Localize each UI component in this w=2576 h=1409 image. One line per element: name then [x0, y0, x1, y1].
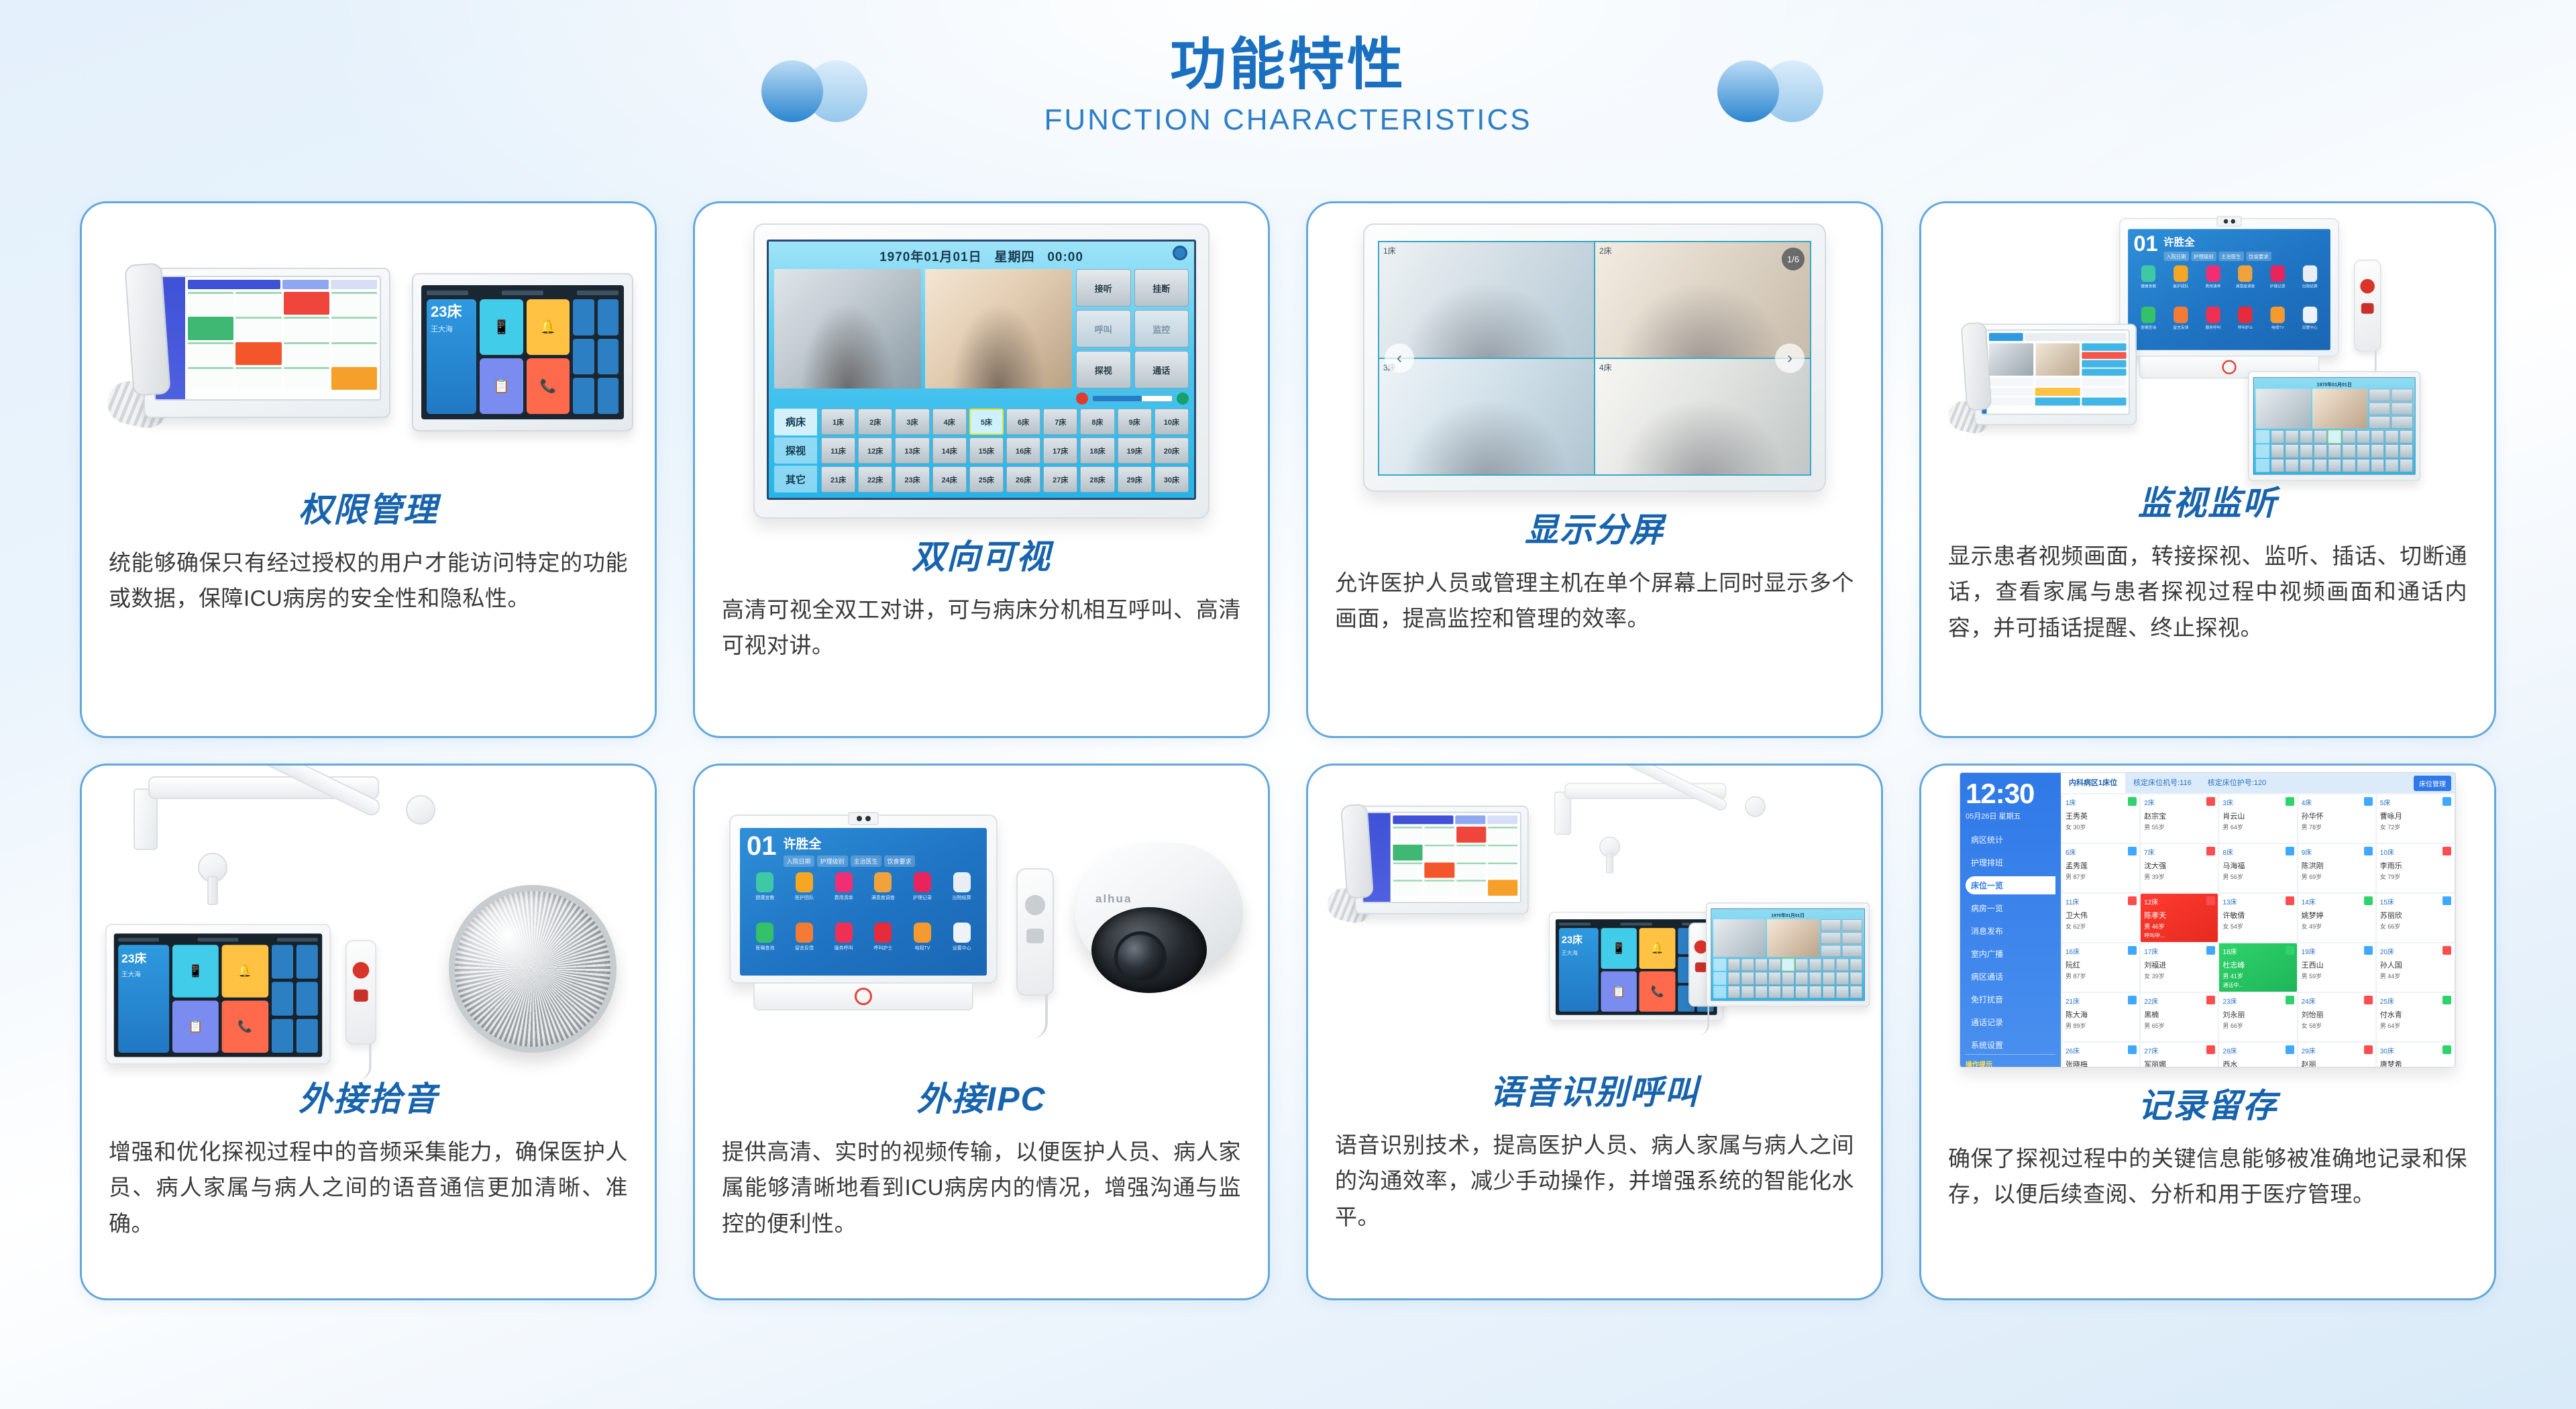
top-button-icon[interactable]	[1025, 895, 1045, 915]
app-label: 护理记录	[913, 894, 932, 901]
app-label: 呼叫护士	[2238, 325, 2253, 330]
tab-other[interactable]: 其它	[774, 466, 817, 492]
wall-panel-bed-button[interactable]	[1809, 972, 1822, 985]
board-bed-cell[interactable]: 2床赵宗宝男 55岁	[2141, 794, 2218, 843]
terminal-app[interactable]: 呼叫护士	[865, 923, 902, 970]
board-menu-item[interactable]: 免打扰音	[1966, 990, 2055, 1008]
wall-panel-bed-button[interactable]	[1836, 959, 1849, 972]
board-bed-cell[interactable]: 20床孙人国男 44岁	[2377, 943, 2454, 992]
wall-visitation-panel: 1970年01月01日	[1706, 902, 1870, 1006]
cell-patient-info: 男 87岁	[2065, 872, 2136, 881]
patient-info: 许胜全 入院日期护理级别主治医生饮食要求	[2163, 234, 2271, 261]
bed-button[interactable]: 8床	[1080, 409, 1114, 435]
cell-patient-info: 男 65岁	[2144, 1021, 2214, 1030]
wall-panel-bed-button[interactable]	[1768, 959, 1781, 972]
wall-panel-bed-button[interactable]	[1809, 959, 1822, 972]
wall-panel-bed-button[interactable]	[2286, 459, 2299, 472]
wall-panel-bed-button[interactable]	[2371, 459, 2384, 472]
bed-button[interactable]: 15床	[969, 437, 1004, 464]
cell-status-badge	[2286, 847, 2294, 855]
terminal-app[interactable]: 服务呼叫	[825, 923, 862, 970]
board-bed-cell[interactable]: 18床杜志峰男 41岁通话中...	[2219, 943, 2296, 992]
wall-panel-bed-button[interactable]	[1782, 986, 1794, 998]
terminal-app[interactable]: 设置中心	[2295, 307, 2325, 346]
cell-patient-info: 女 49岁	[2302, 922, 2372, 931]
monitor-listen-composite: 01 许胜全 入院日期护理级别主治医生饮食要求 健康宣教医护团队费用清单满意度调…	[1946, 215, 2469, 484]
wall-panel-bed-button[interactable]	[2271, 444, 2284, 458]
terminal-app[interactable]: 费用清单	[2198, 266, 2229, 305]
wall-panel-bed-button[interactable]	[2300, 459, 2313, 472]
bed-button[interactable]: 23床	[895, 466, 929, 492]
tile-message-icon[interactable]: 📋	[172, 1000, 219, 1053]
cell-status-badge	[2443, 1045, 2451, 1054]
split-quadrant-3[interactable]: 3床	[1379, 359, 1594, 474]
wall-panel-bed-button[interactable]	[1796, 972, 1809, 985]
wall-panel-bed-button[interactable]	[2357, 459, 2370, 472]
video-feed-patient	[1767, 919, 1819, 957]
bed-button[interactable]: 14床	[932, 437, 967, 464]
board-bed-cell[interactable]: 6床孟秀莲男 87岁	[2062, 844, 2139, 892]
card-description: 显示患者视频画面，转接探视、监听、插话、切断通话，查看家属与患者探视过程中视频画…	[1948, 538, 2467, 645]
secondary-button-icon[interactable]	[354, 990, 368, 1002]
wall-panel-bed-button[interactable]	[2357, 444, 2370, 458]
tile-video-call-icon[interactable]: 📱	[480, 299, 523, 355]
split-quadrant-4[interactable]: 4床	[1595, 359, 1810, 474]
cell-status-badge	[2364, 946, 2373, 955]
bed-button[interactable]: 30床	[1155, 466, 1189, 492]
phone-screen-panel	[1391, 813, 1520, 902]
bed-button[interactable]: 13床	[895, 437, 929, 464]
power-icon[interactable]	[855, 988, 872, 1005]
tile-col-a: 📱 📋	[480, 299, 523, 414]
app-icon	[2270, 266, 2284, 282]
split-quadrant-1[interactable]: 1床	[1379, 242, 1594, 358]
board-tab-bed-count[interactable]: 核定床位机号:116	[2125, 773, 2200, 793]
board-bed-cell[interactable]: 30床唐梦希男 64岁	[2377, 1043, 2454, 1067]
wall-panel-bed-button[interactable]	[1796, 986, 1809, 998]
cell-patient-info: 男 46岁	[2144, 922, 2214, 931]
volume-down-icon[interactable]	[1076, 393, 1088, 405]
bed-button[interactable]: 2床	[858, 409, 892, 435]
cell-bed-number: 19床	[2302, 946, 2372, 956]
terminal-app[interactable]: 健康宣教	[747, 872, 784, 920]
wall-panel-bed-button[interactable]	[1823, 986, 1835, 998]
arm-joint	[1745, 796, 1766, 817]
board-bed-cell[interactable]: 11床卫大伟女 62岁	[2062, 894, 2139, 942]
wall-panel-bed-button[interactable]	[1768, 972, 1781, 985]
card-description: 提供高清、实时的视频传输，以便医护人员、病人家属能够清晰地看到ICU病房内的情况…	[722, 1134, 1241, 1241]
wall-panel-bed-button[interactable]	[1836, 986, 1849, 998]
board-tab-nurse-count[interactable]: 核定床位护号:120	[2200, 773, 2274, 793]
board-bed-cell[interactable]: 23床刘永丽男 66岁	[2219, 993, 2296, 1041]
board-tab-ward[interactable]: 内科病区1床位	[2061, 773, 2125, 793]
monitor-time: 00:00	[1047, 250, 1083, 264]
board-bed-cell[interactable]: 15床苏丽欣女 66岁	[2377, 894, 2454, 942]
secondary-button-icon[interactable]	[1026, 929, 1044, 943]
board-bed-cell[interactable]: 21床陈大海男 89岁	[2062, 993, 2139, 1041]
board-bed-cell[interactable]: 22床黑楠男 65岁	[2141, 993, 2218, 1041]
tile-phone-icon[interactable]: 📞	[1640, 971, 1676, 1011]
board-bed-cell[interactable]: 16床阮红男 87岁	[2062, 943, 2139, 992]
tile-video-call-icon[interactable]: 📱	[172, 945, 219, 997]
talk-button[interactable]: 通话	[1134, 351, 1189, 388]
terminal-app[interactable]: 医护团队	[786, 872, 823, 920]
wall-panel-bed-button[interactable]	[1728, 986, 1741, 998]
terminal-app[interactable]: 护理记录	[904, 872, 941, 920]
cell-bed-number: 20床	[2380, 946, 2451, 956]
bed-button[interactable]: 11床	[821, 437, 855, 464]
app-icon	[874, 872, 892, 892]
wall-panel-bed-button[interactable]	[1755, 959, 1768, 972]
bed-button[interactable]: 6床	[1006, 409, 1040, 435]
board-bed-cell[interactable]: 19床王西山男 59岁	[2298, 943, 2375, 992]
wall-panel-bed-button[interactable]	[1823, 959, 1835, 972]
terminal-app[interactable]: 留言反馈	[2165, 307, 2196, 346]
tile-screen: 23床 王大海 📱 📋 🔔 📞	[421, 285, 624, 419]
feature-card-two-way-video[interactable]: 1970年01月01日 星期四 00:00 接听 挂断 呼叫 监控	[693, 201, 1270, 738]
app-label: 出院结算	[2302, 284, 2318, 289]
cell-patient-info: 女 30岁	[2065, 823, 2136, 831]
wall-panel-bed-button[interactable]	[2314, 430, 2327, 443]
surveillance-button[interactable]: 监控	[1134, 310, 1189, 348]
cell-bed-number: 28床	[2222, 1045, 2293, 1055]
wall-panel-bed-button[interactable]	[2357, 430, 2370, 443]
board-menu-item[interactable]: 病房一览	[1966, 899, 2055, 917]
wall-tile-terminal: 23床 王大海 📱 📋 🔔 📞	[412, 273, 633, 431]
bed-button[interactable]: 7床	[1043, 409, 1077, 435]
wall-panel-bed-button[interactable]	[2343, 459, 2356, 472]
board-bed-cell[interactable]: 28床西水男 49岁	[2219, 1043, 2296, 1067]
terminal-app[interactable]: 呼叫护士	[2231, 307, 2261, 346]
wall-panel-bed-button[interactable]	[1755, 986, 1768, 998]
wall-panel-bed-button[interactable]	[2385, 430, 2399, 443]
wall-panel-bed-button[interactable]	[2371, 430, 2384, 443]
wall-panel-bed-button[interactable]	[2328, 430, 2341, 443]
video-feed-family	[2256, 389, 2311, 429]
feature-card-monitor-and-listen[interactable]: 01 许胜全 入院日期护理级别主治医生饮食要求 健康宣教医护团队费用清单满意度调…	[1919, 201, 2496, 738]
wall-panel-bed-button[interactable]	[1728, 972, 1741, 985]
board-bed-cell[interactable]: 1床王秀英女 30岁	[2062, 794, 2139, 843]
split-quadrant-2[interactable]: 2床	[1595, 242, 1810, 358]
cell-patient-info: 男 64岁	[2380, 1021, 2451, 1030]
cell-bed-number: 11床	[2065, 896, 2136, 906]
feature-card-split-screen-display[interactable]: 1床 2床 3床 4床 1/6 ‹ › 显示分屏	[1306, 201, 1883, 738]
wall-panel-bed-button[interactable]	[1849, 959, 1862, 972]
bed-button[interactable]: 18床	[1080, 437, 1114, 464]
terminal-app[interactable]: 医护团队	[2165, 266, 2196, 305]
terminal-app[interactable]: 出院结算	[943, 872, 980, 920]
board-tabs: 内科病区1床位 核定床位机号:116 核定床位护号:120 床位管理	[2061, 773, 2455, 793]
cell-bed-number: 21床	[2065, 996, 2136, 1006]
terminal-app[interactable]: 服务呼叫	[2198, 307, 2229, 346]
board-note-title: 操作提示	[1966, 1059, 2055, 1067]
page-subtitle: FUNCTION CHARACTERISTICS	[0, 103, 2576, 137]
secondary-button-icon[interactable]	[1695, 962, 1707, 972]
board-menu-item[interactable]: 病区统计	[1966, 831, 2055, 849]
wall-panel-bed-button[interactable]	[1741, 959, 1754, 972]
power-icon[interactable]	[2222, 360, 2236, 374]
patient-info: 许胜全 入院日期护理级别主治医生饮食要求	[784, 834, 915, 867]
wall-panel-bed-button[interactable]	[1768, 986, 1781, 998]
wall-panel-bed-button[interactable]	[2371, 444, 2384, 458]
feature-card-voice-recognition-call[interactable]: 23床 王大海 📱 📋 🔔 📞	[1306, 764, 1883, 1300]
cell-patient-name: 西水	[2222, 1059, 2293, 1067]
remote-cord-icon	[350, 1043, 371, 1080]
volume-slider[interactable]	[1092, 395, 1173, 402]
wall-panel-bed-button[interactable]	[2314, 444, 2327, 458]
card-title: 记录留存	[1948, 1088, 2467, 1125]
board-bed-cell[interactable]: 17床刘福进女 39岁	[2141, 943, 2218, 992]
wall-panel-bed-button[interactable]	[2271, 430, 2284, 443]
call-handset-remote[interactable]	[2354, 260, 2381, 352]
wall-panel-bed-button[interactable]	[2343, 430, 2356, 443]
wall-panel-bed-button[interactable]	[2400, 430, 2413, 443]
volume-control[interactable]	[1076, 393, 1189, 405]
bed-button[interactable]: 9床	[1118, 409, 1152, 435]
wall-panel-bedgrid	[1713, 959, 1862, 998]
cell-patient-name: 阮红	[2065, 959, 2136, 970]
terminal-app[interactable]: 出院结算	[2295, 266, 2325, 305]
tile-bell-icon[interactable]: 🔔	[222, 945, 268, 997]
patient-chips: 入院日期护理级别主治医生饮食要求	[784, 855, 915, 867]
bed-button[interactable]: 16床	[1006, 437, 1040, 464]
wall-panel-bed-button[interactable]	[2328, 444, 2341, 458]
tile-message-icon[interactable]: 📋	[1601, 971, 1637, 1011]
bed-management-button[interactable]: 床位管理	[2414, 776, 2451, 791]
cell-patient-info: 女 66岁	[2380, 922, 2451, 931]
phone-screen-topbar	[1393, 815, 1517, 824]
feature-card-external-ipc[interactable]: 01 许胜全 入院日期护理级别主治医生饮食要求 健康宣教医护团队费用清单满意度调…	[693, 764, 1270, 1300]
bed-button[interactable]: 19床	[1118, 437, 1152, 464]
chevron-right-icon[interactable]: ›	[1775, 344, 1805, 373]
wall-panel-bed-button[interactable]	[2286, 430, 2299, 443]
bed-number: 01	[2133, 234, 2157, 254]
answer-button[interactable]: 接听	[1076, 269, 1131, 307]
wall-panel-bed-button[interactable]	[2385, 444, 2399, 458]
wall-panel-bed-button[interactable]	[2314, 459, 2327, 472]
visit-button[interactable]: 探视	[1076, 351, 1131, 388]
tab-beds[interactable]: 病床	[774, 409, 817, 435]
voice-call-composite: 23床 王大海 📱 📋 🔔 📞	[1326, 780, 1863, 1062]
terminal-app-grid: 健康宣教医护团队费用清单满意度调查护理记录出院结算医嘱查询留言反馈服务呼叫呼叫护…	[747, 872, 980, 970]
cell-bed-number: 23床	[2222, 996, 2293, 1006]
cell-patient-name: 刘怡丽	[2302, 1009, 2372, 1020]
cell-patient-info: 男 55岁	[2144, 823, 2214, 831]
wall-panel-bed-button[interactable]	[2271, 459, 2284, 472]
cell-bed-number: 14床	[2302, 896, 2372, 906]
board-bed-cell[interactable]: 24床刘怡丽女 58岁	[2298, 993, 2375, 1041]
board-bed-cell[interactable]: 10床李雨乐女 79岁	[2377, 844, 2454, 892]
terminal-app[interactable]: 护理记录	[2263, 266, 2293, 305]
cell-patient-name: 孟秀莲	[2065, 860, 2136, 871]
board-bed-cell[interactable]: 5床曹咏月女 72岁	[2377, 794, 2454, 843]
wall-panel-bed-button[interactable]	[2300, 430, 2313, 443]
tile-bed-number: 23床	[431, 305, 472, 319]
secondary-button-icon[interactable]	[2361, 303, 2374, 314]
wall-panel-bed-button[interactable]	[1849, 972, 1862, 985]
page-title-wrap: 功能特性 FUNCTION CHARACTERISTICS	[0, 0, 2576, 137]
bed-button[interactable]: 22床	[858, 466, 892, 492]
bed-button[interactable]: 21床	[821, 466, 855, 492]
app-icon	[953, 923, 971, 943]
tile-message-icon[interactable]: 📋	[480, 358, 523, 414]
wall-panel-bed-button[interactable]	[1741, 986, 1754, 998]
cell-call-status: 呼叫中...	[2144, 932, 2214, 939]
monitor-tabs: 病床 探视 其它	[774, 409, 817, 492]
wall-panel-bed-button[interactable]	[1755, 972, 1768, 985]
wall-panel-bed-button[interactable]	[2400, 444, 2413, 458]
card-body: 外接IPC 提供高清、实时的视频传输，以便医护人员、病人家属能够清晰地看到ICU…	[695, 1081, 1268, 1241]
bed-button[interactable]: 1床	[821, 409, 855, 435]
board-bed-cell[interactable]: 4床孙华怀男 78岁	[2298, 794, 2375, 843]
wall-panel-bed-button[interactable]	[1836, 972, 1849, 985]
bed-button[interactable]: 25床	[969, 466, 1004, 492]
board-bed-cell[interactable]: 13床许敏倩女 54岁	[2219, 894, 2296, 942]
board-menu-item[interactable]: 室内广播	[1966, 945, 2055, 963]
settings-gear-icon[interactable]	[1173, 246, 1187, 260]
bed-button[interactable]: 24床	[932, 466, 967, 492]
terminal-app[interactable]: 设置中心	[943, 923, 980, 970]
app-icon	[953, 872, 971, 892]
board-menu-item[interactable]: 病区通话	[1966, 968, 2055, 986]
terminal-app[interactable]: 满意度调查	[865, 872, 902, 920]
bed-button[interactable]: 26床	[1006, 466, 1040, 492]
patient-chip: 护理级别	[817, 855, 848, 867]
nurse-station-phone	[103, 264, 392, 431]
terminal-app[interactable]: 满意度调查	[2231, 266, 2261, 305]
call-button[interactable]: 呼叫	[1076, 310, 1131, 348]
app-label: 呼叫护士	[873, 945, 892, 951]
feature-card-external-microphone[interactable]: 23床 王大海 📱 📋 🔔 📞	[80, 764, 657, 1300]
wall-panel-bed-button[interactable]	[2286, 444, 2299, 458]
external-microphone-disc	[449, 885, 616, 1053]
bed-button[interactable]: 17床	[1043, 437, 1077, 464]
board-date: 05月26日 星期五	[1966, 811, 2055, 821]
bed-button[interactable]: 10床	[1155, 409, 1189, 435]
board-bed-cell[interactable]: 27床军丽娜女 75岁	[2141, 1043, 2218, 1067]
board-menu-item[interactable]: 消息发布	[1966, 922, 2055, 940]
wall-panel-bed-button[interactable]	[1782, 972, 1794, 985]
wall-panel-bed-button[interactable]	[1849, 986, 1862, 998]
terminal-app[interactable]: 电视TV	[904, 923, 941, 970]
wall-panel-bed-button[interactable]	[1823, 972, 1835, 985]
app-label: 满意度调查	[2236, 284, 2255, 289]
emergency-button-icon[interactable]	[353, 962, 370, 979]
tile-phone-icon[interactable]: 📞	[222, 1000, 268, 1053]
board-bed-cell[interactable]: 14床姚梦婷女 49岁	[2298, 894, 2375, 942]
wall-panel-bed-button[interactable]	[2300, 444, 2313, 458]
emergency-button-icon[interactable]	[2360, 279, 2375, 294]
tab-visits[interactable]: 探视	[774, 437, 817, 464]
feature-card-permission-management[interactable]: 23床 王大海 📱 📋 🔔 📞	[80, 201, 657, 738]
bed-button[interactable]: 5床	[969, 409, 1004, 435]
board-bed-cell[interactable]: 12床陈孝天男 46岁呼叫中...	[2141, 894, 2218, 942]
board-bed-cell[interactable]: 29床赵丽女 58岁	[2298, 1043, 2375, 1067]
wall-panel-bed-button[interactable]	[1728, 959, 1741, 972]
board-menu-item[interactable]: 系统设置	[1966, 1036, 2055, 1054]
call-handset-remote[interactable]	[1016, 868, 1054, 996]
wall-panel-bed-button[interactable]	[2328, 459, 2341, 472]
card-description: 统能够确保只有经过授权的用户才能访问特定的功能或数据，保障ICU病房的安全性和隐…	[109, 545, 628, 617]
cell-patient-name: 刘福进	[2144, 959, 2214, 970]
tile-bell-icon[interactable]: 🔔	[527, 299, 570, 355]
cell-status-badge	[2128, 1045, 2137, 1054]
arm-stem	[207, 876, 218, 905]
board-bed-cell[interactable]: 8床马海福男 56岁	[2219, 844, 2296, 892]
chevron-left-icon[interactable]: ‹	[1385, 344, 1414, 373]
board-bed-cell[interactable]: 3床肖云山男 64岁	[2219, 794, 2296, 843]
bed-button[interactable]: 3床	[895, 409, 929, 435]
terminal-app[interactable]: 留言反馈	[786, 923, 823, 970]
app-icon	[914, 923, 931, 943]
wall-panel-bed-button[interactable]	[1809, 986, 1822, 998]
tile-bell-icon[interactable]: 🔔	[1640, 928, 1676, 968]
decor-circles-right	[1717, 60, 1831, 122]
bed-button[interactable]: 4床	[932, 409, 967, 435]
wall-panel-bed-button[interactable]	[2400, 459, 2413, 472]
terminal-app[interactable]: 费用清单	[825, 872, 862, 920]
board-menu-item[interactable]: 床位一览	[1966, 876, 2055, 894]
board-bed-cell[interactable]: 26床张晓梅女 85岁	[2062, 1043, 2139, 1067]
cell-status-badge	[2206, 946, 2215, 955]
terminal-app[interactable]: 健康宣教	[2133, 266, 2163, 305]
terminal-topbar	[118, 938, 318, 942]
tile-video-call-icon[interactable]: 📱	[1601, 928, 1637, 968]
terminal-app[interactable]: 医嘱查询	[2133, 307, 2163, 346]
terminal-app[interactable]: 电视TV	[2263, 307, 2293, 346]
board-menu-item[interactable]: 护理排班	[1966, 853, 2055, 872]
board-bed-cell[interactable]: 25床付水青男 64岁	[2377, 993, 2454, 1041]
board-menu-item[interactable]: 通话记录	[1966, 1013, 2055, 1031]
bed-button[interactable]: 29床	[1118, 466, 1152, 492]
volume-up-icon[interactable]	[1177, 393, 1189, 405]
bed-button[interactable]: 20床	[1155, 437, 1189, 464]
hangup-button[interactable]: 挂断	[1134, 269, 1189, 307]
cell-patient-info: 女 62岁	[2065, 922, 2136, 931]
wall-panel-bed-button[interactable]	[1782, 959, 1794, 972]
tile-mini-buttons	[272, 945, 318, 1053]
cell-patient-name: 孙华怀	[2302, 811, 2372, 821]
cell-patient-name: 王秀英	[2065, 811, 2136, 821]
card-description: 增强和优化探视过程中的音频采集能力，确保医护人员、病人家属与病人之间的语音通信更…	[109, 1134, 628, 1241]
terminal-app[interactable]: 医嘱查询	[747, 923, 784, 970]
card-media: 23床 王大海 📱 📋 🔔 📞	[82, 766, 655, 1081]
bed-button-grid: 1床2床3床4床5床6床7床8床9床10床11床12床13床14床15床16床1…	[821, 409, 1189, 492]
cell-bed-number: 2床	[2144, 797, 2214, 807]
tile-phone-icon[interactable]: 📞	[527, 358, 570, 414]
feature-card-record-retention[interactable]: 12:30 05月26日 星期五 病区统计护理排班床位一览病房一览消息发布室内广…	[1919, 764, 2496, 1300]
wall-panel-bed-button[interactable]	[1741, 972, 1754, 985]
wall-panel-bed-button[interactable]	[2343, 444, 2356, 458]
bed-button[interactable]: 12床	[858, 437, 892, 464]
cell-patient-name: 姚梦婷	[2302, 910, 2372, 921]
camera-icon	[2216, 216, 2242, 227]
cell-patient-name: 赵丽	[2302, 1059, 2372, 1067]
cell-patient-info: 男 89岁	[2065, 1021, 2136, 1030]
wall-panel-bed-button[interactable]	[1796, 959, 1809, 972]
bed-button[interactable]: 27床	[1043, 466, 1077, 492]
board-bed-cell[interactable]: 9床陈洪刚男 69岁	[2298, 844, 2375, 892]
terminal-shell: 23床 王大海 📱 📋 🔔 📞	[105, 924, 331, 1065]
card-title: 监视监听	[1948, 485, 2467, 522]
wall-panel-bed-button[interactable]	[2385, 459, 2399, 472]
call-handset-remote[interactable]	[345, 940, 376, 1045]
card-body: 外接拾音 增强和优化探视过程中的音频采集能力，确保医护人员、病人家属与病人之间的…	[82, 1081, 655, 1241]
board-bed-cell[interactable]: 7床沈大强男 39岁	[2141, 844, 2218, 892]
bed-button[interactable]: 28床	[1080, 466, 1114, 492]
terminal-header: 01 许胜全 入院日期护理级别主治医生饮食要求	[747, 834, 980, 867]
video-feed-family	[774, 269, 921, 388]
